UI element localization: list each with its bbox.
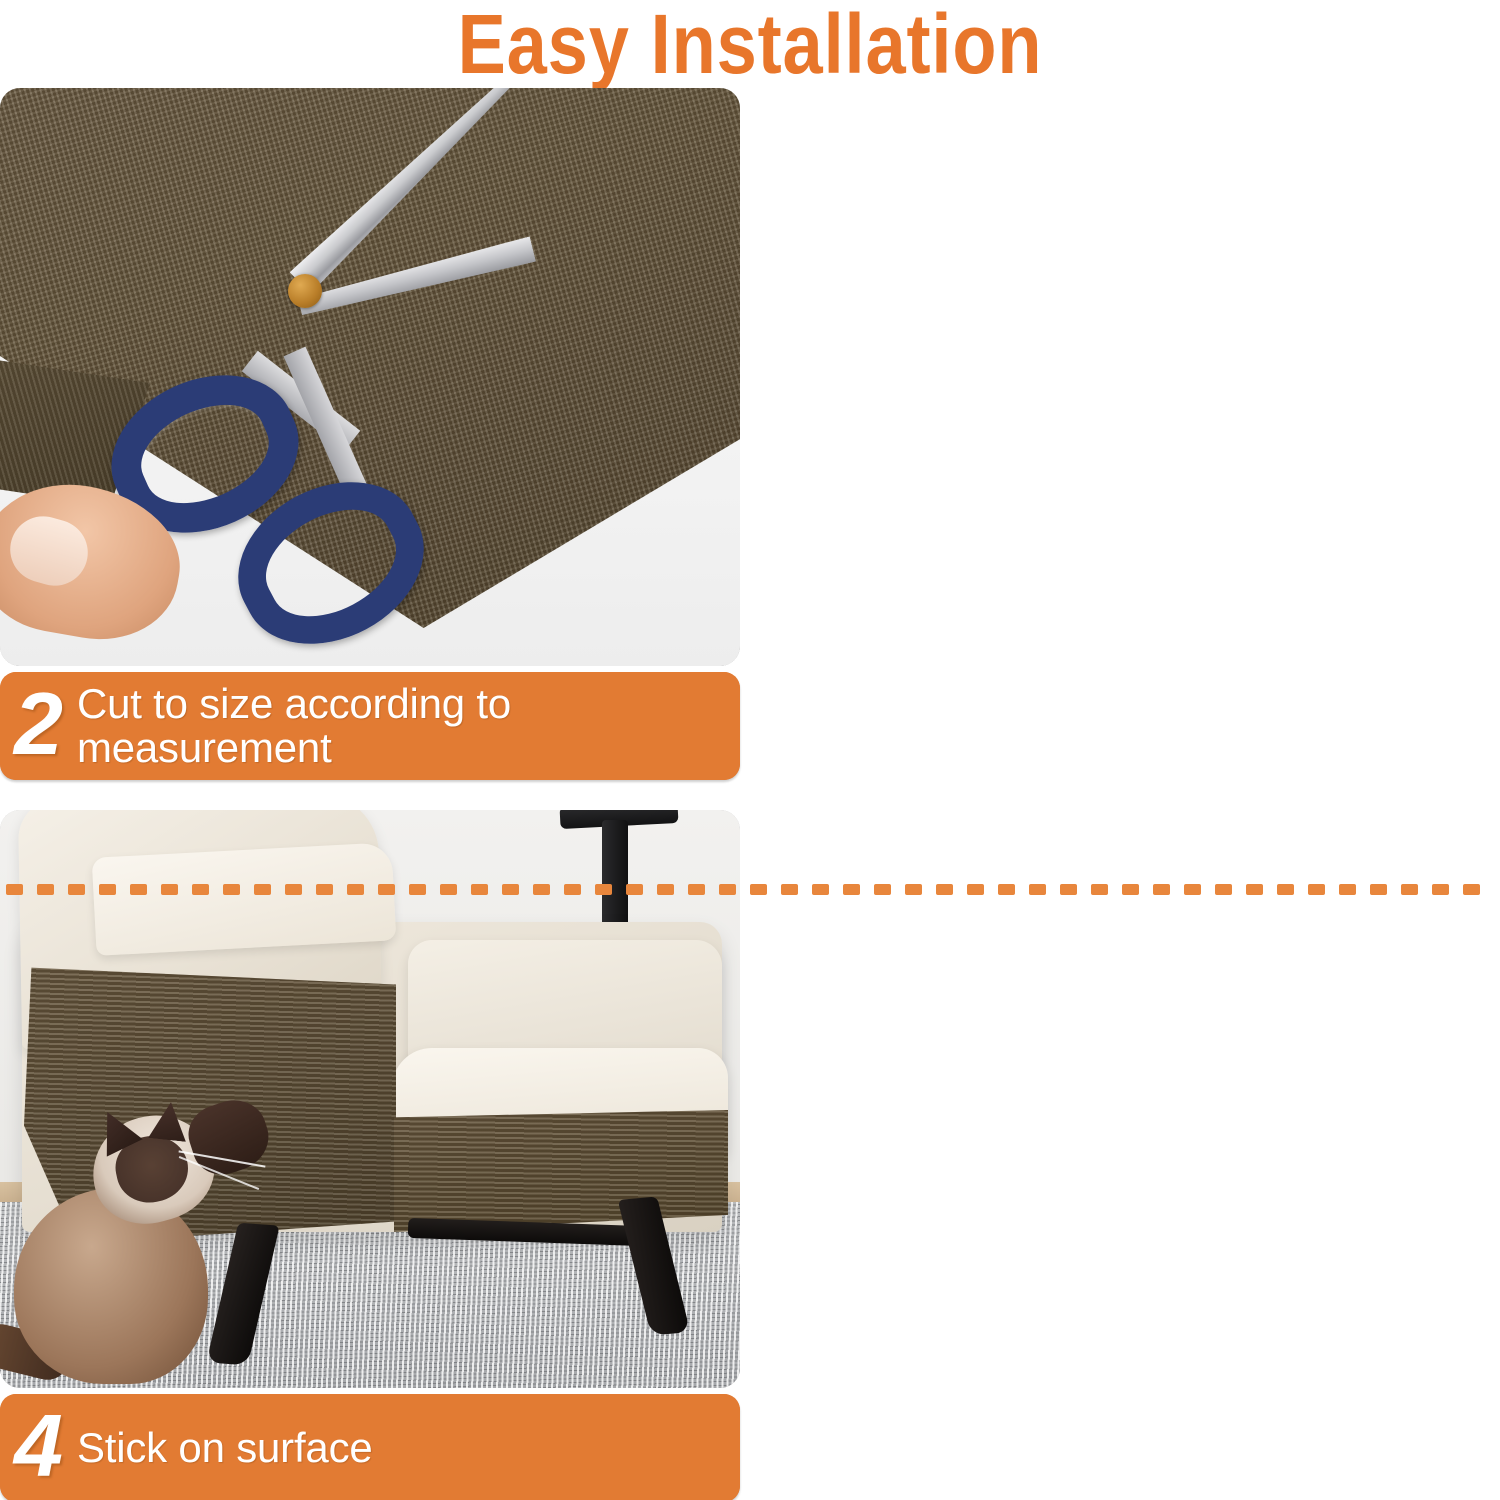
divider-dash — [657, 884, 674, 895]
dashed-divider — [6, 884, 1494, 895]
divider-dash — [1184, 884, 1201, 895]
divider-dash — [1153, 884, 1170, 895]
divider-dash — [6, 884, 23, 895]
divider-dash — [68, 884, 85, 895]
step-card-2: 2 Cut to size according to measurement — [0, 88, 740, 780]
divider-dash — [1339, 884, 1356, 895]
divider-dash — [626, 884, 643, 895]
divider-dash — [440, 884, 457, 895]
page-title-container: Easy Installation — [0, 0, 1500, 88]
divider-dash — [471, 884, 488, 895]
scratch-mat-front-panel — [394, 1110, 728, 1232]
divider-dash — [409, 884, 426, 895]
divider-dash — [254, 884, 271, 895]
scissor-pivot-screw — [288, 274, 322, 308]
installation-infographic: Easy Installation 1 2 3 4 5 6 — [0, 0, 1500, 1500]
divider-dash — [99, 884, 116, 895]
divider-dash — [285, 884, 302, 895]
throw-pillow — [92, 842, 397, 956]
steps-grid: 1 2 3 4 5 6 1 Measure and wipe area, ens… — [0, 88, 1500, 1500]
divider-dash — [874, 884, 891, 895]
step-2-text: Cut to size according to measurement — [77, 682, 734, 769]
divider-dash — [750, 884, 767, 895]
divider-dash — [1277, 884, 1294, 895]
divider-dash — [130, 884, 147, 895]
cat-body — [14, 1188, 208, 1384]
divider-dash — [1463, 884, 1480, 895]
divider-dash — [161, 884, 178, 895]
divider-dash — [595, 884, 612, 895]
divider-dash — [37, 884, 54, 895]
divider-dash — [936, 884, 953, 895]
divider-dash — [1401, 884, 1418, 895]
divider-dash — [1370, 884, 1387, 895]
divider-dash — [1308, 884, 1325, 895]
divider-dash — [1246, 884, 1263, 895]
divider-dash — [533, 884, 550, 895]
divider-dash — [223, 884, 240, 895]
divider-dash — [502, 884, 519, 895]
divider-dash — [378, 884, 395, 895]
page-title: Easy Installation — [458, 2, 1043, 86]
step-4-photo — [0, 810, 740, 1388]
divider-dash — [812, 884, 829, 895]
divider-dash — [316, 884, 333, 895]
divider-dash — [781, 884, 798, 895]
step-card-4: 4 Stick on surface — [0, 810, 740, 1500]
step-2-photo — [0, 88, 740, 666]
divider-dash — [1122, 884, 1139, 895]
divider-dash — [1215, 884, 1232, 895]
divider-dash — [1029, 884, 1046, 895]
step-4-caption: 4 Stick on surface — [0, 1394, 740, 1500]
divider-dash — [843, 884, 860, 895]
divider-dash — [564, 884, 581, 895]
divider-dash — [719, 884, 736, 895]
step-2-caption: 2 Cut to size according to measurement — [0, 672, 740, 780]
divider-dash — [967, 884, 984, 895]
divider-dash — [347, 884, 364, 895]
divider-dash — [1432, 884, 1449, 895]
divider-dash — [1091, 884, 1108, 895]
divider-dash — [688, 884, 705, 895]
divider-dash — [192, 884, 209, 895]
step-2-number: 2 — [14, 684, 77, 763]
divider-dash — [1060, 884, 1077, 895]
step-4-number: 4 — [14, 1406, 77, 1485]
divider-dash — [905, 884, 922, 895]
divider-dash — [998, 884, 1015, 895]
step-4-text: Stick on surface — [77, 1426, 373, 1470]
side-table-stem — [602, 820, 628, 930]
